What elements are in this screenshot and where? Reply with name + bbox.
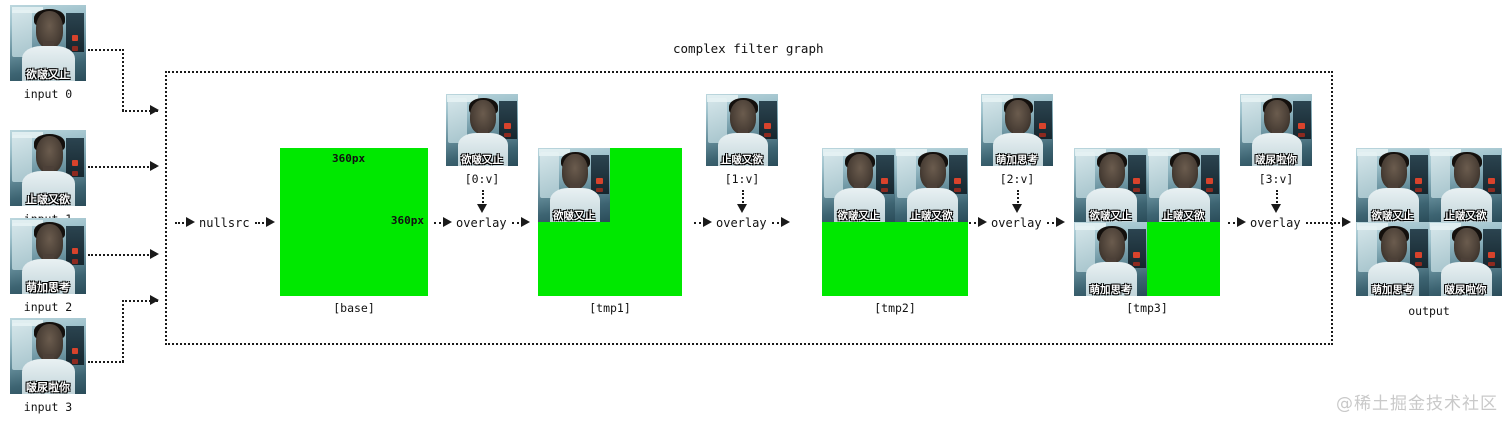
edge-nullsrc-out-arrow — [266, 217, 275, 227]
base-width-label: 360px — [332, 152, 365, 165]
edge-tmp1-to-overlay2-arrow — [703, 217, 712, 227]
tmp1-quadrant-top-left: 欲啵又止 — [538, 148, 610, 222]
edge-input3-arrow — [150, 295, 159, 305]
edge-2v-down-arrow — [1012, 204, 1022, 213]
stage-tmp2-label: [tmp2] — [822, 301, 968, 315]
input-2-group: 萌加思考 input 2 — [10, 218, 86, 294]
stage-tmp2-group: 欲啵又止 止啵又欲 [tmp2] — [822, 148, 968, 296]
input-2-thumbnail: 萌加思考 — [10, 218, 86, 294]
filter-node-overlay-4: overlay — [1250, 216, 1301, 230]
output-canvas: 欲啵又止 止啵又欲 萌加思考 啵尿啦你 — [1356, 148, 1502, 296]
edge-overlay1-out-arrow — [521, 217, 530, 227]
pad-2v-label: [2:v] — [981, 172, 1053, 186]
edge-input3-seg1 — [88, 361, 124, 363]
output-group: 欲啵又止 止啵又欲 萌加思考 啵尿啦你 output — [1356, 148, 1502, 296]
input-3-label: input 3 — [10, 400, 86, 414]
output-quadrant-top-left: 欲啵又止 — [1356, 148, 1429, 222]
stage-base-group: 360px 360px [base] — [280, 148, 428, 296]
tmp3-quadrant-top-right-caption: 止啵又欲 — [1147, 211, 1220, 222]
tmp3-quadrant-top-left-caption: 欲啵又止 — [1074, 211, 1147, 222]
pad-2v-thumbnail: 萌加思考 — [981, 94, 1053, 166]
edge-input1-arrow — [150, 161, 159, 171]
filter-node-overlay-3: overlay — [991, 216, 1042, 230]
base-height-label: 360px — [391, 214, 424, 227]
edge-input2-seg1 — [88, 254, 156, 256]
edge-base-to-overlay1-arrow — [443, 217, 452, 227]
pad-3v-caption: 啵尿啦你 — [1240, 155, 1312, 166]
pad-0v-label: [0:v] — [446, 172, 518, 186]
output-quadrant-bottom-right-caption: 啵尿啦你 — [1429, 285, 1502, 296]
input-3-caption: 啵尿啦你 — [10, 382, 86, 394]
input-2-caption: 萌加思考 — [10, 282, 86, 294]
pad-2v-group: 萌加思考 [2:v] — [981, 94, 1053, 166]
edge-input0-arrow — [150, 105, 159, 115]
edge-to-nullsrc-arrow — [186, 217, 195, 227]
pad-3v-group: 啵尿啦你 [3:v] — [1240, 94, 1312, 166]
input-0-caption: 欲啵又止 — [10, 69, 86, 81]
pad-2v-caption: 萌加思考 — [981, 155, 1053, 166]
edge-overlay4-out-arrow — [1342, 217, 1351, 227]
tmp2-quadrant-top-left-caption: 欲啵又止 — [822, 211, 895, 222]
edge-input3-seg2 — [122, 300, 124, 362]
edge-input0-seg1 — [88, 49, 124, 51]
input-0-thumbnail: 欲啵又止 — [10, 5, 86, 81]
pad-0v-thumbnail: 欲啵又止 — [446, 94, 518, 166]
input-0-group: 欲啵又止 input 0 — [10, 5, 86, 81]
filter-node-nullsrc: nullsrc — [199, 216, 250, 230]
stage-tmp3-label: [tmp3] — [1074, 301, 1220, 315]
output-quadrant-top-left-caption: 欲啵又止 — [1356, 211, 1429, 222]
stage-tmp1-canvas: 欲啵又止 — [538, 148, 682, 296]
edge-overlay3-out-arrow — [1056, 217, 1065, 227]
tmp2-quadrant-top-right-caption: 止啵又欲 — [895, 211, 968, 222]
filter-node-overlay-2: overlay — [716, 216, 767, 230]
filter-node-overlay-1: overlay — [456, 216, 507, 230]
input-3-group: 啵尿啦你 input 3 — [10, 318, 86, 394]
edge-input0-seg2 — [122, 49, 124, 111]
output-quadrant-top-right: 止啵又欲 — [1429, 148, 1502, 222]
pad-1v-thumbnail: 止啵又欲 — [706, 94, 778, 166]
stage-tmp1-label: [tmp1] — [538, 301, 682, 315]
tmp3-quadrant-top-left: 欲啵又止 — [1074, 148, 1147, 222]
pad-1v-group: 止啵又欲 [1:v] — [706, 94, 778, 166]
tmp3-quadrant-top-right: 止啵又欲 — [1147, 148, 1220, 222]
output-label: output — [1356, 304, 1502, 318]
input-1-caption: 止啵又欲 — [10, 194, 86, 206]
edge-overlay4-out — [1306, 222, 1344, 224]
tmp2-quadrant-top-right: 止啵又欲 — [895, 148, 968, 222]
stage-base-canvas: 360px 360px — [280, 148, 428, 296]
output-quadrant-bottom-left: 萌加思考 — [1356, 222, 1429, 296]
tmp1-quadrant-top-left-caption: 欲啵又止 — [538, 211, 610, 222]
graph-title: complex filter graph — [673, 41, 824, 56]
pad-3v-label: [3:v] — [1240, 172, 1312, 186]
edge-3v-down-arrow — [1271, 204, 1281, 213]
tmp2-quadrant-top-left: 欲啵又止 — [822, 148, 895, 222]
edge-1v-down-arrow — [737, 204, 747, 213]
output-quadrant-bottom-right: 啵尿啦你 — [1429, 222, 1502, 296]
input-3-thumbnail: 啵尿啦你 — [10, 318, 86, 394]
tmp3-quadrant-bottom-left-caption: 萌加思考 — [1074, 285, 1147, 296]
diagram-canvas: complex filter graph 欲啵又止 input 0 止啵又欲 i… — [0, 0, 1512, 424]
edge-tmp3-to-overlay4-arrow — [1237, 217, 1246, 227]
input-0-label: input 0 — [10, 87, 86, 101]
output-quadrant-bottom-left-caption: 萌加思考 — [1356, 285, 1429, 296]
edge-0v-down-arrow — [477, 204, 487, 213]
pad-3v-thumbnail: 啵尿啦你 — [1240, 94, 1312, 166]
stage-tmp2-canvas: 欲啵又止 止啵又欲 — [822, 148, 968, 296]
pad-1v-label: [1:v] — [706, 172, 778, 186]
output-quadrant-top-right-caption: 止啵又欲 — [1429, 211, 1502, 222]
edge-tmp2-to-overlay3-arrow — [978, 217, 987, 227]
pad-0v-caption: 欲啵又止 — [446, 155, 518, 166]
edge-input2-arrow — [150, 249, 159, 259]
input-1-group: 止啵又欲 input 1 — [10, 130, 86, 206]
stage-tmp3-group: 欲啵又止 止啵又欲 萌加思考 [tmp3] — [1074, 148, 1220, 296]
pad-1v-caption: 止啵又欲 — [706, 155, 778, 166]
input-2-label: input 2 — [10, 300, 86, 314]
stage-tmp1-group: 欲啵又止 [tmp1] — [538, 148, 682, 296]
stage-base-label: [base] — [280, 301, 428, 315]
stage-tmp3-canvas: 欲啵又止 止啵又欲 萌加思考 — [1074, 148, 1220, 296]
tmp3-quadrant-bottom-left: 萌加思考 — [1074, 222, 1147, 296]
edge-input1-seg1 — [88, 166, 156, 168]
watermark: @稀土掘金技术社区 — [1336, 389, 1498, 414]
input-1-thumbnail: 止啵又欲 — [10, 130, 86, 206]
edge-overlay2-out-arrow — [781, 217, 790, 227]
pad-0v-group: 欲啵又止 [0:v] — [446, 94, 518, 166]
